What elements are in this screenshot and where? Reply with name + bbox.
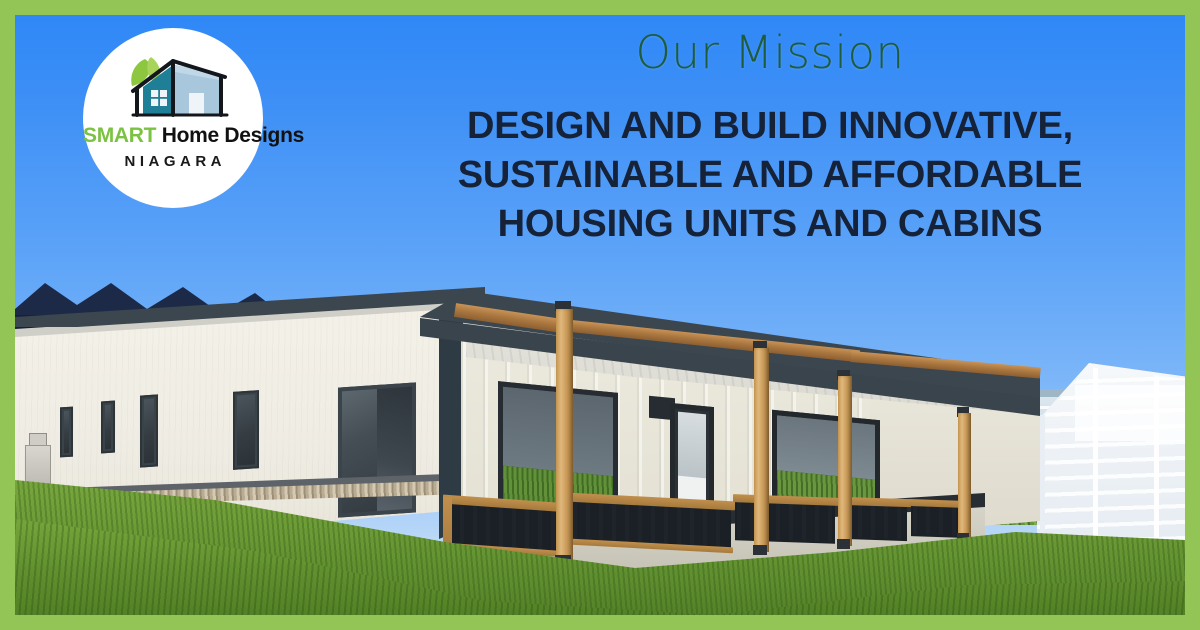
logo-wordmark: SMART Home Designs <box>83 125 263 146</box>
railing-balusters-right-b <box>845 505 905 539</box>
poster-canvas: SMART Home Designs NIAGARA Our Mission D… <box>0 0 1200 630</box>
mission-text-block: Our Mission DESIGN AND BUILD INNOVATIVE,… <box>430 20 1110 250</box>
headline-line-3: HOUSING UNITS AND CABINS <box>430 200 1110 249</box>
glass-sky-reflection <box>777 415 875 480</box>
greenhouse-white-panel <box>1075 385 1185 441</box>
headline-line-2: SUSTAINABLE AND AFFORDABLE <box>430 151 1110 200</box>
entry-door-glass <box>678 412 706 480</box>
porch-post-4 <box>958 413 971 539</box>
logo-word-home-designs: Home Designs <box>156 124 304 147</box>
railing-balusters-right-a <box>737 502 833 541</box>
wall-window-4 <box>233 390 259 470</box>
porch-post-2 <box>754 348 769 552</box>
brand-logo-badge[interactable]: SMART Home Designs NIAGARA <box>83 28 263 208</box>
porch-post-1 <box>556 309 573 563</box>
wall-window-2 <box>101 401 115 454</box>
headline-line-1: DESIGN AND BUILD INNOVATIVE, <box>430 102 1110 151</box>
porch-post-3 <box>838 376 852 546</box>
window-pane <box>105 405 111 449</box>
wall-window-3 <box>140 394 158 467</box>
window-pane <box>144 399 154 464</box>
post-base-2 <box>753 545 767 555</box>
logo-region-niagara: NIAGARA <box>83 153 263 170</box>
house-with-leaf-icon <box>115 53 233 119</box>
wall-window-1 <box>60 407 73 458</box>
mission-eyebrow: Our Mission <box>430 28 1110 78</box>
railing-balusters-right-c <box>913 506 961 536</box>
logo-word-smart: SMART <box>83 124 156 147</box>
post-base-3 <box>837 539 850 549</box>
mission-headline: DESIGN AND BUILD INNOVATIVE, SUSTAINABLE… <box>430 102 1110 250</box>
window-pane <box>237 394 255 465</box>
window-pane <box>64 411 69 453</box>
